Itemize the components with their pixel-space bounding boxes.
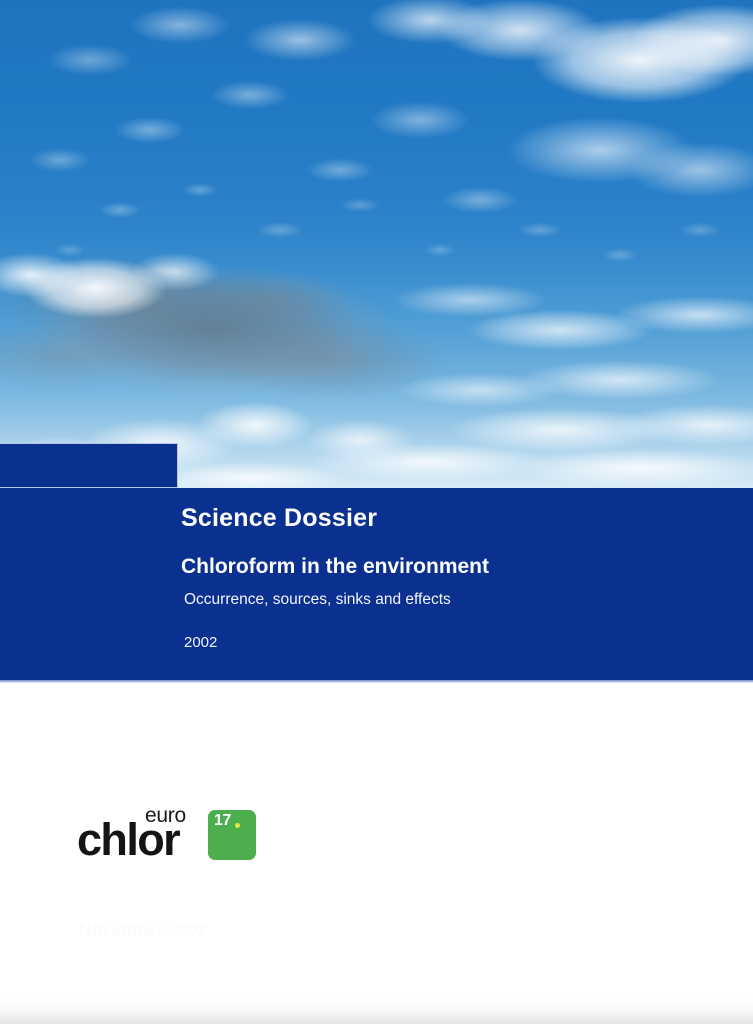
page-bottom-edge: [0, 998, 753, 1024]
document-type: Science Dossier: [181, 505, 721, 533]
document-cover-page: Science Dossier Chloroform in the enviro…: [0, 0, 753, 1024]
element-square-icon: 17: [208, 810, 256, 860]
accent-tab: [0, 443, 178, 488]
publication-date: November 2002: [79, 921, 207, 938]
logo-dot-icon: [235, 823, 240, 828]
euro-chlor-logo: euro chlor 17: [77, 805, 257, 867]
element-number: 17: [214, 813, 231, 829]
document-subtitle: Occurrence, sources, sinks and effects: [184, 591, 721, 610]
page-title: Chloroform in the environment: [181, 555, 721, 578]
logo-word-chlor: chlor: [77, 817, 179, 862]
sky-photograph: [0, 0, 753, 488]
document-year: 2002: [184, 634, 721, 652]
title-block: Science Dossier Chloroform in the enviro…: [181, 505, 721, 652]
horizon-haze: [0, 0, 753, 488]
